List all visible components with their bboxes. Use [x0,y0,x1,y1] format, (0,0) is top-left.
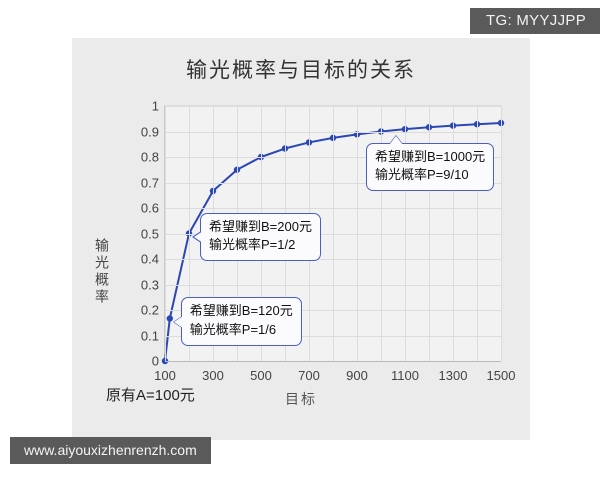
chart-panel: 输光概率与目标的关系 输光概率 目标 原有A=100元 00.10.20.30.… [72,38,530,440]
gridline-horizontal [165,361,501,362]
y-tick-label: 0.2 [141,303,159,318]
y-tick-label: 0.9 [141,124,159,139]
y-tick-label: 0.3 [141,277,159,292]
y-tick-label: 1 [152,99,159,114]
callout-line-probability: 输光概率P=9/10 [375,166,485,185]
y-axis-title: 输光概率 [92,238,112,306]
x-tick-label: 1500 [487,368,516,383]
callout-b120: 希望赚到B=120元输光概率P=1/6 [181,297,302,346]
initial-amount-note: 原有A=100元 [106,384,195,405]
y-tick-label: 0.1 [141,328,159,343]
callout-line-goal: 希望赚到B=1000元 [375,148,485,167]
site-watermark: www.aiyouxizhenrenzh.com [10,437,211,464]
x-tick-label: 100 [154,368,176,383]
x-tick-label: 700 [298,368,320,383]
x-tick-label: 1100 [391,368,419,383]
gridline-vertical [501,106,502,361]
callout-b200: 希望赚到B=200元输光概率P=1/2 [200,213,321,262]
y-tick-label: 0.6 [141,201,159,216]
tg-tag-badge: TG: MYYJJPP [470,8,600,34]
y-tick-label: 0.7 [141,175,159,190]
x-tick-label: 1300 [439,368,468,383]
callout-line-goal: 希望赚到B=200元 [209,218,312,237]
chart-title: 输光概率与目标的关系 [72,54,530,84]
x-tick-label: 500 [250,368,272,383]
callout-line-probability: 输光概率P=1/6 [190,321,293,340]
y-tick-label: 0 [152,354,159,369]
callout-b1000: 希望赚到B=1000元输光概率P=9/10 [366,143,494,192]
gridline-vertical [165,106,166,361]
x-tick-label: 300 [202,368,224,383]
callout-line-probability: 输光概率P=1/2 [209,236,312,255]
y-tick-label: 0.8 [141,150,159,165]
y-tick-label: 0.5 [141,226,159,241]
gridline-vertical [333,106,334,361]
y-tick-label: 0.4 [141,252,159,267]
callout-line-goal: 希望赚到B=120元 [190,302,293,321]
screenshot-root: TG: MYYJJPP 输光概率与目标的关系 输光概率 目标 原有A=100元 … [0,0,600,480]
x-tick-label: 900 [346,368,368,383]
gridline-vertical [357,106,358,361]
